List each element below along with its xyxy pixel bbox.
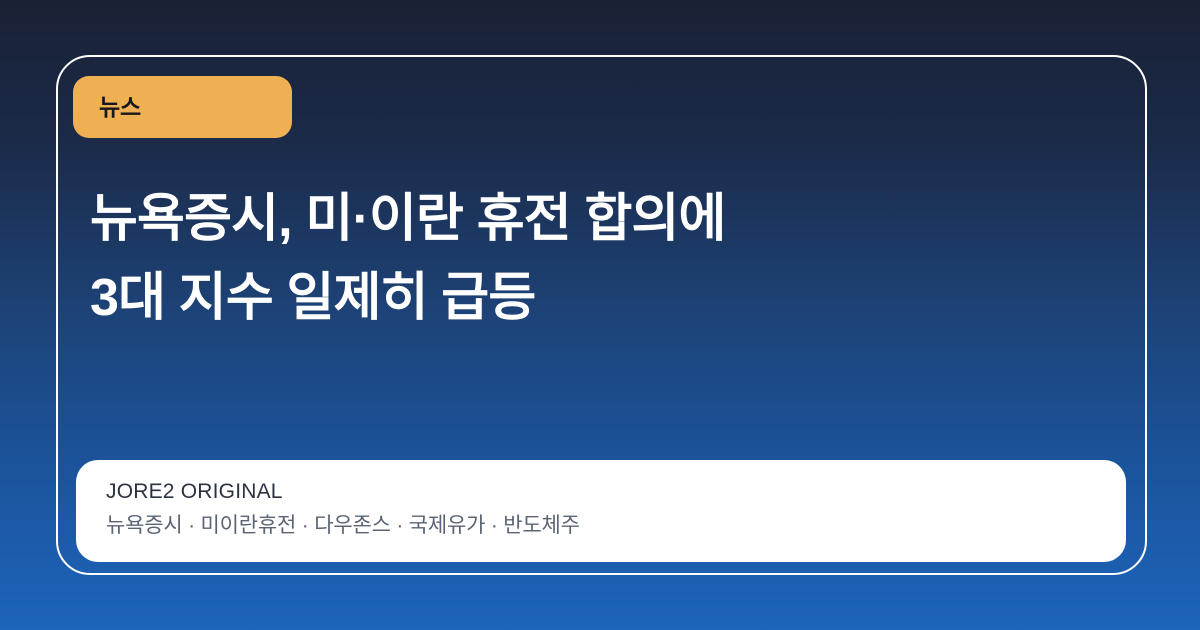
category-badge-label: 뉴스: [99, 96, 141, 119]
brand-label: JORE2 ORIGINAL: [106, 478, 1126, 506]
tag-list: 뉴욕증시 · 미이란휴전 · 다우존스 · 국제유가 · 반도체주: [106, 512, 1126, 540]
news-card-canvas: 뉴스 뉴욕증시, 미·이란 휴전 합의에 3대 지수 일제히 급등 JORE2 …: [0, 0, 1200, 630]
page-title: 뉴욕증시, 미·이란 휴전 합의에 3대 지수 일제히 급등: [90, 180, 1090, 338]
category-badge[interactable]: 뉴스: [73, 76, 292, 138]
card-content: 뉴스 뉴욕증시, 미·이란 휴전 합의에 3대 지수 일제히 급등 JORE2 …: [56, 55, 1147, 575]
footer-card: JORE2 ORIGINAL 뉴욕증시 · 미이란휴전 · 다우존스 · 국제유…: [76, 460, 1126, 562]
